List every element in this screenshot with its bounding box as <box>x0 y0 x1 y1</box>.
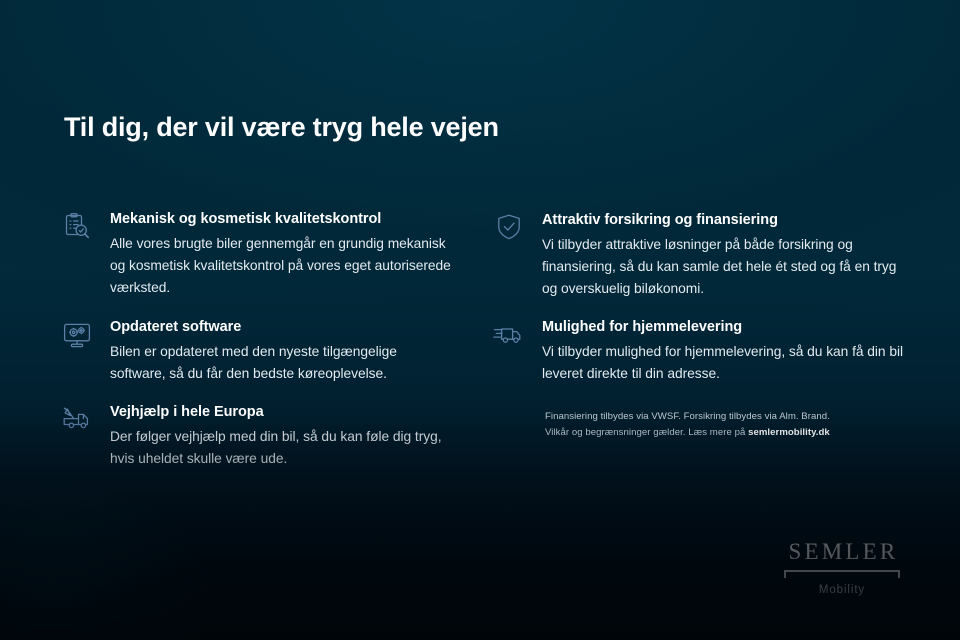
tow-truck-icon <box>56 403 98 445</box>
logo-rule-cap-right <box>898 570 900 578</box>
feature-item: Mulighed for hjemmelevering Vi tilbyder … <box>488 318 908 385</box>
feature-text: Vejhjælp i hele Europa Der følger vejhjæ… <box>110 403 456 470</box>
logo-subtitle: Mobility <box>782 584 902 596</box>
feature-item: Mekanisk og kosmetisk kvalitetskontrol A… <box>56 210 456 299</box>
slide-root: Til dig, der vil være tryg hele vejen <box>0 0 960 640</box>
feature-text: Mulighed for hjemmelevering Vi tilbyder … <box>542 318 908 385</box>
feature-heading: Vejhjælp i hele Europa <box>110 403 456 423</box>
feature-body: Bilen er opdateret med den nyeste tilgæn… <box>110 341 456 385</box>
logo-rule-bar <box>784 570 900 572</box>
feature-body: Der følger vejhjælp med din bil, så du k… <box>110 426 456 470</box>
fineprint-line-1: Finansiering tilbydes via VWSF. Forsikri… <box>545 411 830 422</box>
feature-text: Attraktiv forsikring og finansiering Vi … <box>542 211 908 300</box>
fineprint-link[interactable]: semlermobility.dk <box>748 427 830 438</box>
logo-rule-cap-left <box>784 570 786 578</box>
feature-heading: Attraktiv forsikring og finansiering <box>542 211 908 231</box>
logo-rule <box>784 570 900 579</box>
feature-body: Vi tilbyder attraktive løsninger på både… <box>542 234 908 300</box>
clipboard-magnifier-icon <box>56 210 98 252</box>
fineprint-disclaimer: Finansiering tilbydes via VWSF. Forsikri… <box>545 409 845 440</box>
feature-item: Opdateret software Bilen er opdateret me… <box>56 318 456 385</box>
feature-heading: Opdateret software <box>110 318 456 338</box>
feature-item: Vejhjælp i hele Europa Der følger vejhjæ… <box>56 403 456 470</box>
semler-mobility-logo: SEMLER Mobility <box>782 540 902 596</box>
feature-body: Vi tilbyder mulighed for hjemmelevering,… <box>542 341 908 385</box>
logo-wordmark: SEMLER <box>782 540 902 563</box>
feature-heading: Mekanisk og kosmetisk kvalitetskontrol <box>110 210 456 230</box>
feature-text: Opdateret software Bilen er opdateret me… <box>110 318 456 385</box>
feature-body: Alle vores brugte biler gennemgår en gru… <box>110 233 456 299</box>
feature-heading: Mulighed for hjemmelevering <box>542 318 908 338</box>
fineprint-line-2-prefix: Vilkår og begrænsninger gælder. Læs mere… <box>545 427 748 438</box>
shield-check-icon <box>488 211 530 253</box>
delivery-truck-icon <box>488 318 530 360</box>
monitor-gears-icon <box>56 318 98 360</box>
feature-text: Mekanisk og kosmetisk kvalitetskontrol A… <box>110 210 456 299</box>
feature-item: Attraktiv forsikring og finansiering Vi … <box>488 211 908 300</box>
